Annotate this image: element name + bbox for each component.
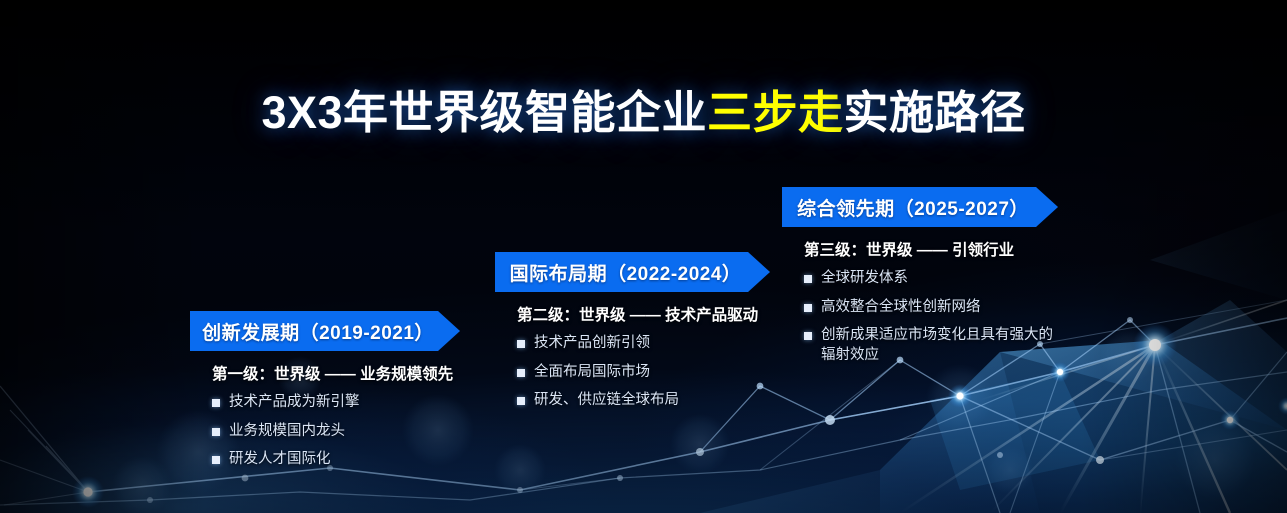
stage-3-subtitle: 第三级：世界级 —— 引领行业 (782, 238, 1058, 260)
stage-1-bullet-2: 业务规模国内龙头 (229, 422, 460, 442)
stage-3-banner[interactable]: 综合领先期（2025-2027） (782, 187, 1058, 227)
title-highlight: 三步走 (707, 87, 844, 138)
bullet-square-icon (517, 340, 525, 348)
title-prefix: 3X3年世界级智能企业 (261, 87, 707, 138)
stage-3-bullet-3: 创新成果适应市场变化且具有强大的辐射效应 (821, 326, 1058, 365)
list-item: 高效整合全球性创新网络 (804, 298, 1058, 318)
stage-2-bullet-3: 研发、供应链全球布局 (534, 391, 770, 411)
stage-2-subtitle: 第二级：世界级 —— 技术产品驱动 (495, 303, 770, 325)
list-item: 业务规模国内龙头 (212, 422, 460, 442)
stage-3-bullet-list: 全球研发体系 高效整合全球性创新网络 创新成果适应市场变化且具有强大的辐射效应 (782, 269, 1058, 365)
stage-1-banner-label: 创新发展期（2019-2021） (202, 318, 448, 345)
list-item: 全面布局国际市场 (517, 363, 770, 383)
stage-1-bullet-list: 技术产品成为新引擎 业务规模国内龙头 研发人才国际化 (190, 393, 460, 470)
stage-2-banner[interactable]: 国际布局期（2022-2024） (495, 252, 770, 292)
list-item: 技术产品创新引领 (517, 334, 770, 354)
stage-1-subtitle: 第一级：世界级 —— 业务规模领先 (190, 362, 460, 384)
bullet-square-icon (804, 332, 812, 340)
stage-2-bullet-1: 技术产品创新引领 (534, 334, 770, 354)
stage-block-3: 综合领先期（2025-2027） 第三级：世界级 —— 引领行业 全球研发体系 … (782, 187, 1058, 374)
bullet-square-icon (212, 456, 220, 464)
stage-block-2: 国际布局期（2022-2024） 第二级：世界级 —— 技术产品驱动 技术产品创… (495, 252, 770, 420)
list-item: 全球研发体系 (804, 269, 1058, 289)
bullet-square-icon (212, 399, 220, 407)
stage-block-1: 创新发展期（2019-2021） 第一级：世界级 —— 业务规模领先 技术产品成… (190, 311, 460, 479)
stage-2-banner-label: 国际布局期（2022-2024） (510, 259, 756, 286)
list-item: 研发、供应链全球布局 (517, 391, 770, 411)
stage-2-bullet-2: 全面布局国际市场 (534, 363, 770, 383)
stage-2-bullet-list: 技术产品创新引领 全面布局国际市场 研发、供应链全球布局 (495, 334, 770, 411)
stage-1-bullet-1: 技术产品成为新引擎 (229, 393, 460, 413)
title-suffix: 实施路径 (844, 87, 1026, 138)
stage-1-banner[interactable]: 创新发展期（2019-2021） (190, 311, 460, 351)
stage-3-bullet-1: 全球研发体系 (821, 269, 1058, 289)
list-item: 技术产品成为新引擎 (212, 393, 460, 413)
bullet-square-icon (804, 275, 812, 283)
stage-1-bullet-3: 研发人才国际化 (229, 450, 460, 470)
list-item: 研发人才国际化 (212, 450, 460, 470)
stage-3-bullet-2: 高效整合全球性创新网络 (821, 298, 1058, 318)
list-item: 创新成果适应市场变化且具有强大的辐射效应 (804, 326, 1058, 365)
presentation-slide: 3X3年世界级智能企业三步走实施路径 创新发展期（2019-2021） 第一级：… (0, 0, 1287, 513)
stage-3-banner-label: 综合领先期（2025-2027） (797, 194, 1043, 221)
slide-title: 3X3年世界级智能企业三步走实施路径 (0, 86, 1287, 140)
bullet-square-icon (517, 397, 525, 405)
bullet-square-icon (517, 369, 525, 377)
bullet-square-icon (212, 428, 220, 436)
bullet-square-icon (804, 304, 812, 312)
